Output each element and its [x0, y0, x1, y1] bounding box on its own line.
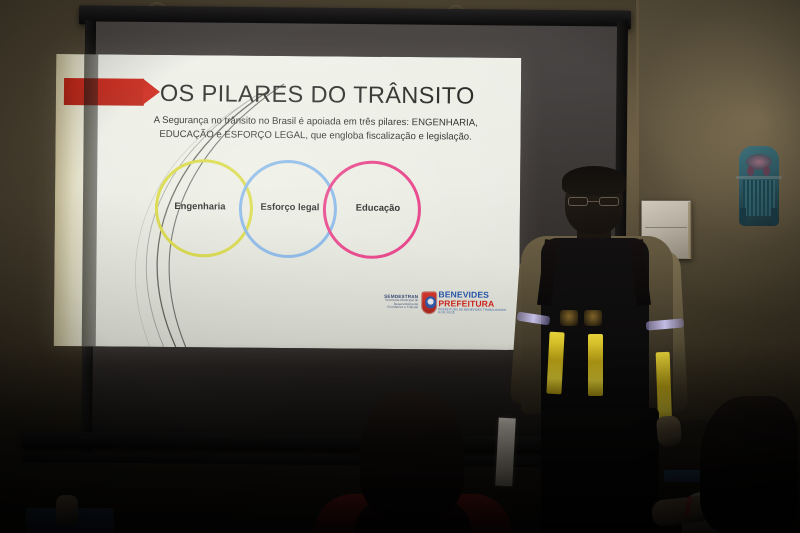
- vest-badge-left: [560, 310, 578, 326]
- craft-eye-left: [747, 166, 754, 176]
- semutran-logo: SEMDESTRAN Secretaria Municipal de Desen…: [384, 294, 418, 310]
- benevides-logo: BENEVIDES PREFEITURA PREFEITURA DE BENEV…: [422, 290, 509, 315]
- slide-subtitle: A Segurança no trânsito no Brasil é apoi…: [136, 114, 496, 145]
- craft-eye-right: [763, 166, 770, 176]
- glasses-lens-right: [599, 197, 619, 206]
- glasses-bridge: [588, 201, 599, 202]
- benevides-logo-tagline: PREFEITURA DE BENEVIDES TRABALHANDO POR …: [438, 309, 509, 315]
- slide-title: OS PILARES DO TRÂNSITO: [160, 80, 500, 110]
- venn-label-engenharia: Engenharia: [151, 200, 249, 212]
- benevides-crest-icon: [422, 292, 436, 313]
- vest-badge-right: [584, 310, 602, 326]
- venn-label-esforco-legal: Esforço legal: [241, 201, 339, 213]
- craft-leg-left: [740, 208, 746, 225]
- semutran-logo-subtitle: Secretaria Municipal de Desenvolvimento …: [384, 299, 418, 310]
- room-floor-shadow: [0, 343, 800, 533]
- presenter-hair: [562, 166, 626, 196]
- wall-craft-decoration: [739, 146, 779, 226]
- benevides-logo-text: BENEVIDES PREFEITURA PREFEITURA DE BENEV…: [438, 290, 509, 315]
- craft-leg-right: [771, 208, 777, 225]
- presenter-glasses: [567, 197, 621, 206]
- venn-diagram: Engenharia Esforço legal Educação: [154, 159, 455, 264]
- arrow-tip: [143, 79, 160, 105]
- slide-logo-group: SEMDESTRAN Secretaria Municipal de Desen…: [384, 285, 509, 320]
- craft-crossbar: [736, 176, 782, 179]
- venn-label-educacao: Educação: [329, 201, 427, 213]
- glasses-lens-left: [568, 197, 588, 206]
- presentation-photo-scene: OS PILARES DO TRÂNSITO A Segurança no tr…: [0, 0, 800, 533]
- projected-slide: OS PILARES DO TRÂNSITO A Segurança no tr…: [54, 54, 522, 350]
- slide-overhang-wall-tint: [54, 54, 97, 346]
